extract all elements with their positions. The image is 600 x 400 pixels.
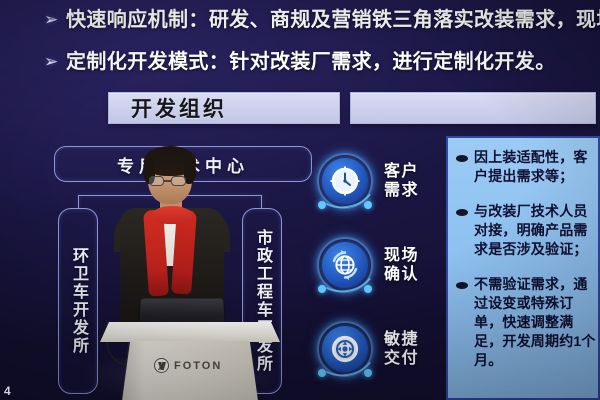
bullet-dot-icon bbox=[456, 209, 468, 216]
process-step-2-line2: 确认 bbox=[384, 265, 419, 284]
foton-emblem-icon bbox=[154, 358, 169, 373]
process-step-2: 现场 确认 bbox=[314, 228, 440, 302]
globe-refresh-icon bbox=[314, 234, 376, 296]
bullet-line-1-text: 快速响应机制：研发、商规及营销铁三角落实改装需求，现场 bbox=[66, 8, 600, 33]
org-connector-drop-left bbox=[78, 195, 79, 208]
process-step-2-line1: 现场 bbox=[384, 246, 419, 265]
section-header-left: 开发组织 bbox=[108, 92, 340, 124]
bullet-line-1: ➢ 快速响应机制：研发、商规及营销铁三角落实改装需求，现场 bbox=[44, 8, 600, 33]
arrow-marker-icon: ➢ bbox=[44, 8, 66, 32]
section-header-right bbox=[350, 92, 596, 124]
process-step-1-line2: 需求 bbox=[384, 181, 419, 200]
bullet-line-2-lead: 定制化开发模式： bbox=[66, 51, 229, 73]
process-step-2-label: 现场 确认 bbox=[384, 246, 419, 284]
bullet-line-2: ➢ 定制化开发模式：针对改装厂需求，进行定制化开发。 bbox=[44, 50, 556, 75]
podium: FOTON bbox=[100, 322, 280, 400]
speaker-scarf-collar bbox=[152, 206, 192, 224]
process-step-1-line1: 客户 bbox=[384, 162, 419, 181]
podium-shading bbox=[122, 341, 144, 400]
detail-bullet-3-text: 不需验证需求，通过设变或特殊订单，快速调整满足，开发周期约1个月。 bbox=[474, 275, 598, 370]
bullet-line-2-text: 定制化开发模式：针对改装厂需求，进行定制化开发。 bbox=[66, 50, 556, 75]
bullet-line-1-body: 研发、商规及营销铁三角落实改装需求，现场 bbox=[209, 9, 600, 31]
process-step-3-line1: 敏捷 bbox=[384, 330, 419, 349]
speaker-at-podium: FOTON bbox=[96, 150, 286, 400]
arrow-marker-icon: ➢ bbox=[44, 50, 66, 74]
foton-wordmark: FOTON bbox=[174, 360, 222, 372]
detail-panel: 因上装适配性，客户提出需求等； 与改装厂技术人员对接，明确产品需求是否涉及验证；… bbox=[446, 136, 600, 400]
bullet-dot-icon bbox=[456, 155, 468, 162]
foton-logo: FOTON bbox=[154, 358, 222, 373]
detail-bullet-2-text: 与改装厂技术人员对接，明确产品需求是否涉及验证； bbox=[474, 202, 598, 259]
process-step-1: 客户 需求 bbox=[314, 144, 440, 218]
org-child-label-1: 环卫车开发所 bbox=[59, 209, 97, 393]
clock-icon bbox=[314, 150, 376, 212]
bullet-line-2-body: 针对改装厂需求，进行定制化开发。 bbox=[229, 51, 555, 73]
process-step-3-label: 敏捷 交付 bbox=[384, 330, 419, 368]
process-step-3-line2: 交付 bbox=[384, 349, 419, 368]
top-bullet-block: ➢ 快速响应机制：研发、商规及营销铁三角落实改装需求，现场 ➢ 定制化开发模式：… bbox=[0, 0, 600, 86]
org-child-box-1: 环卫车开发所 bbox=[58, 208, 98, 394]
process-step-column: 客户 需求 现场 bbox=[314, 140, 440, 394]
speaker-eyeglass-bridge bbox=[164, 180, 171, 182]
slide-photo-stage: ➢ 快速响应机制：研发、商规及营销铁三角落实改装需求，现场 ➢ 定制化开发模式：… bbox=[0, 0, 600, 400]
detail-bullet-2: 与改装厂技术人员对接，明确产品需求是否涉及验证； bbox=[456, 202, 598, 259]
podium-top-surface bbox=[100, 322, 280, 342]
bullet-dot-icon bbox=[456, 282, 468, 289]
wheel-icon bbox=[314, 318, 376, 380]
speaker-eyeglass-right bbox=[171, 176, 186, 186]
bullet-line-1-lead: 快速响应机制： bbox=[66, 9, 209, 31]
page-number: 4 bbox=[4, 384, 11, 398]
process-step-1-label: 客户 需求 bbox=[384, 162, 419, 200]
process-step-3: 敏捷 交付 bbox=[314, 312, 440, 386]
speaker-eyeglass-left bbox=[149, 176, 164, 186]
detail-bullet-1: 因上装适配性，客户提出需求等； bbox=[456, 148, 598, 186]
detail-bullet-3: 不需验证需求，通过设变或特殊订单，快速调整满足，开发周期约1个月。 bbox=[456, 275, 598, 370]
section-header-left-label: 开发组织 bbox=[131, 93, 227, 123]
detail-bullet-1-text: 因上装适配性，客户提出需求等； bbox=[474, 148, 598, 186]
